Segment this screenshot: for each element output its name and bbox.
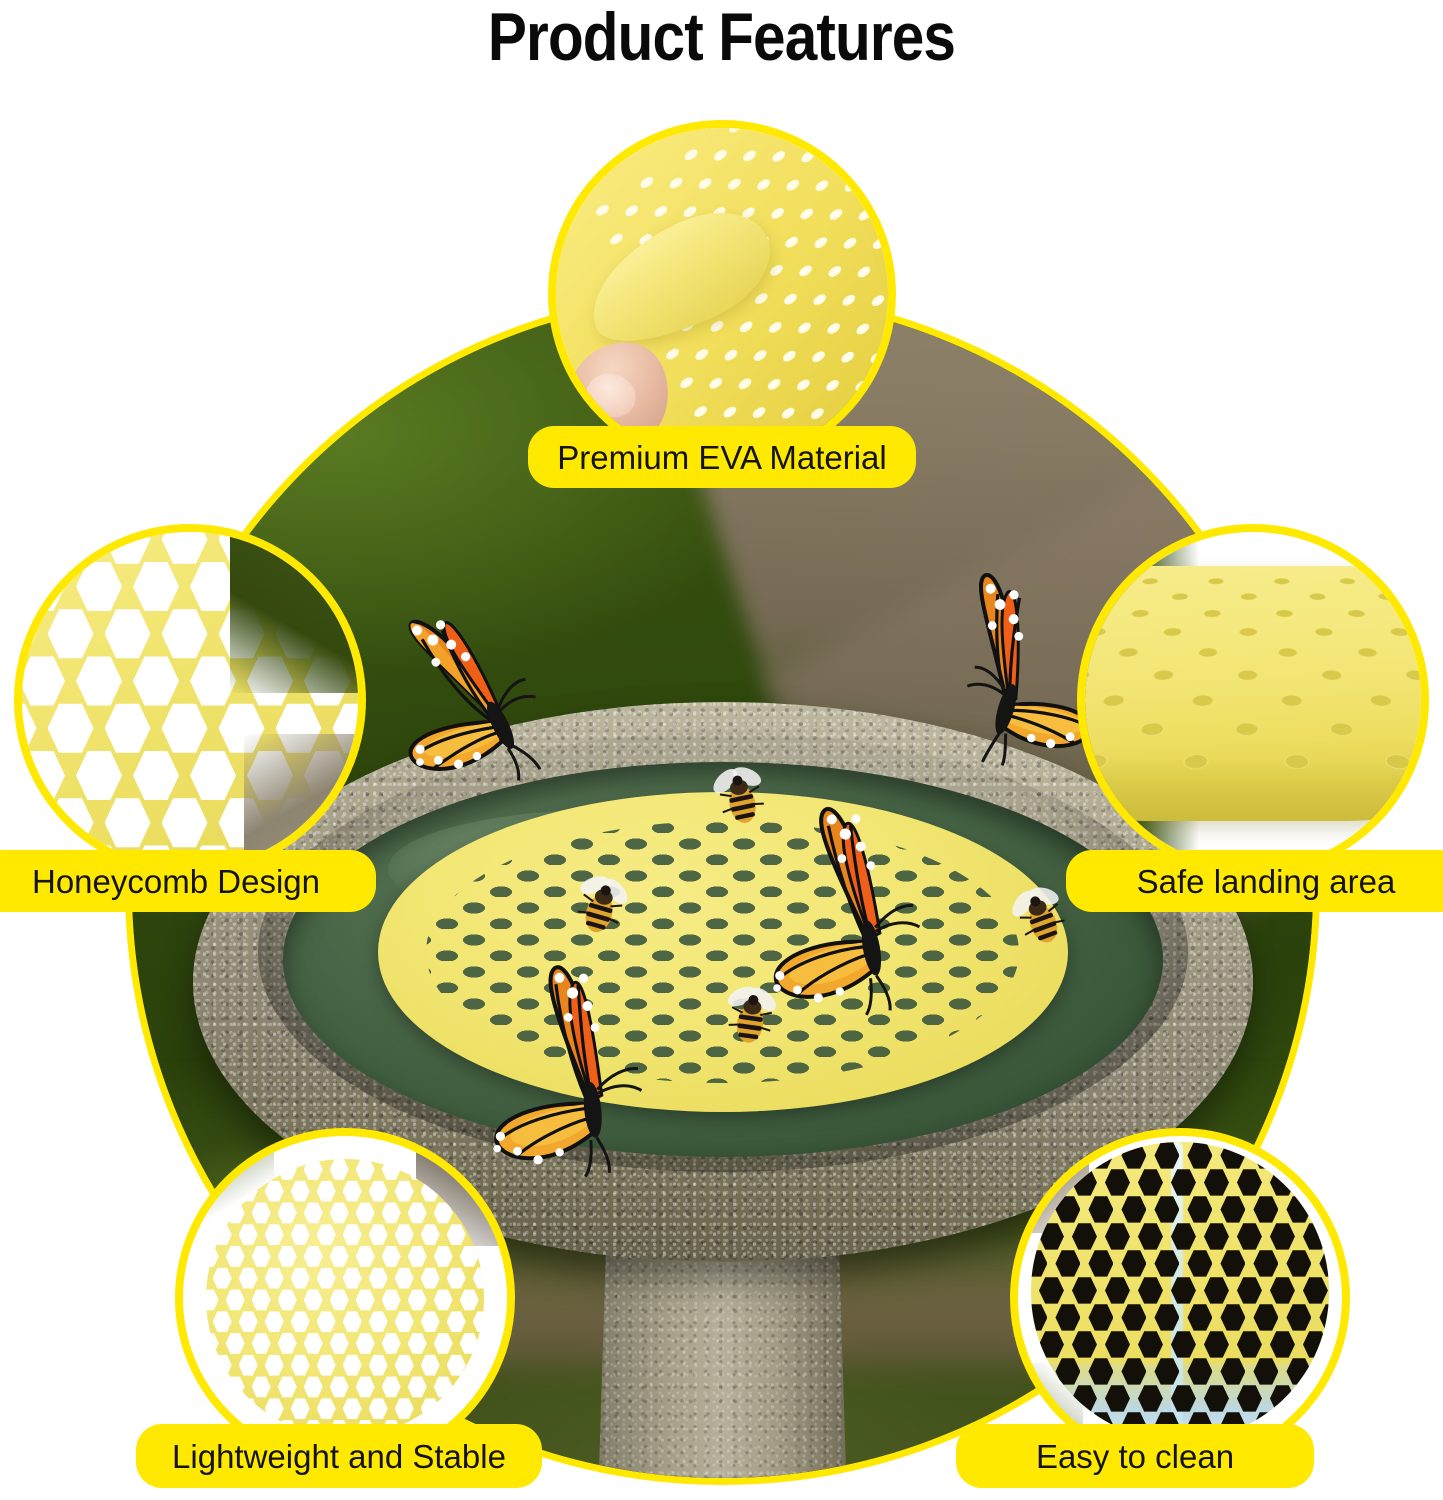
hex-cell — [265, 1354, 284, 1376]
hex-cell — [14, 524, 37, 565]
hex-cell — [1253, 1303, 1278, 1331]
hex-cell — [382, 1289, 401, 1311]
hex-cell — [434, 1376, 453, 1398]
hex-cell — [408, 1202, 427, 1224]
label-lightweight-and-stable[interactable]: Lightweight and Stable — [136, 1424, 542, 1488]
hex-cell — [1138, 1168, 1163, 1196]
hex-cell — [330, 1376, 349, 1398]
hex-cell — [213, 1224, 232, 1246]
hex-cell — [291, 1180, 310, 1202]
hex-cell — [1253, 1249, 1278, 1277]
hex-cell — [105, 524, 151, 565]
callout-easy-to-clean — [1010, 1128, 1350, 1468]
hex-cell — [162, 608, 208, 660]
hex-cell — [317, 1267, 336, 1289]
hex-cell — [369, 1224, 388, 1246]
hex-cell — [162, 797, 208, 849]
hex-cell — [1270, 1168, 1295, 1196]
hex-cell — [395, 1311, 414, 1333]
hex-cell — [206, 1376, 219, 1398]
hex-cell — [76, 750, 122, 802]
hex-cell — [76, 655, 122, 707]
hex-cell — [265, 1180, 284, 1202]
hex-cell — [460, 1289, 479, 1311]
hex-cell — [343, 1224, 362, 1246]
hex-cell — [252, 1202, 271, 1224]
hex-cell — [343, 1311, 362, 1333]
hex-cell — [1055, 1249, 1080, 1277]
hex-cell — [1105, 1276, 1130, 1304]
hex-cell — [330, 1289, 349, 1311]
hex-cell — [421, 1354, 440, 1376]
honeycomb-disc-full — [206, 1159, 485, 1438]
hex-cell — [1220, 1195, 1245, 1223]
hex-cell — [382, 1376, 401, 1398]
hex-cell — [252, 1289, 271, 1311]
hex-cell — [1204, 1276, 1229, 1304]
hex-cell — [1237, 1330, 1262, 1358]
hex-cell — [408, 1289, 427, 1311]
hex-cell — [473, 1354, 485, 1376]
hex-cell — [447, 1224, 466, 1246]
callout-honeycomb-design — [14, 524, 366, 876]
hex-cell — [395, 1398, 414, 1420]
hex-cell — [19, 750, 65, 802]
callout-safe-landing-area — [1077, 524, 1429, 876]
hex-cell — [226, 1245, 245, 1267]
hex-cell — [1286, 1249, 1311, 1277]
hex-cell — [343, 1398, 362, 1420]
hex-cell — [343, 1354, 362, 1376]
hex-cell — [48, 608, 94, 660]
hex-cell — [447, 1354, 466, 1376]
hex-cell — [447, 1267, 466, 1289]
hex-cell — [343, 1180, 362, 1202]
hex-cell — [421, 1398, 440, 1420]
label-easy-to-clean[interactable]: Easy to clean — [956, 1424, 1314, 1488]
hex-cell — [1088, 1195, 1113, 1223]
hex-cell — [239, 1398, 258, 1420]
hex-cell — [190, 655, 236, 707]
hex-cell — [382, 1159, 401, 1181]
foam-hex-dimples — [1077, 572, 1429, 789]
hex-cell — [317, 1224, 336, 1246]
hex-cell — [447, 1398, 466, 1420]
hex-cell — [252, 1376, 271, 1398]
hex-cell — [226, 1289, 245, 1311]
hex-cell — [213, 1267, 232, 1289]
hex-cell — [317, 1354, 336, 1376]
label-honeycomb-design[interactable]: Honeycomb Design — [0, 850, 376, 912]
hex-cell — [356, 1289, 375, 1311]
label-safe-landing-area[interactable]: Safe landing area — [1066, 850, 1443, 912]
hex-cell — [1072, 1222, 1097, 1250]
hex-cell — [395, 1180, 414, 1202]
hex-cell — [1303, 1276, 1328, 1304]
hex-cell — [76, 561, 122, 613]
hex-cell — [1187, 1142, 1212, 1169]
hex-cell — [291, 1311, 310, 1333]
hex-cell — [239, 1267, 258, 1289]
hex-cell — [133, 655, 179, 707]
hex-cell — [1237, 1168, 1262, 1196]
hex-cell — [304, 1202, 323, 1224]
hex-cell — [14, 797, 37, 849]
hex-cell — [1039, 1276, 1064, 1304]
hex-cell — [304, 1245, 323, 1267]
hex-cell — [1319, 1303, 1329, 1331]
hex-cell — [369, 1267, 388, 1289]
hex-cell — [421, 1224, 440, 1246]
callout-premium-eva-material — [548, 120, 896, 468]
hex-cell — [1072, 1276, 1097, 1304]
hex-cell — [1303, 1222, 1328, 1250]
hex-cell — [356, 1376, 375, 1398]
hex-cell — [1105, 1222, 1130, 1250]
hex-cell — [239, 1224, 258, 1246]
hex-cell — [278, 1159, 297, 1181]
hex-cell — [434, 1245, 453, 1267]
hex-cell — [1055, 1303, 1080, 1331]
hex-cell — [395, 1267, 414, 1289]
hex-cell — [460, 1376, 479, 1398]
hex-cell — [1072, 1330, 1097, 1358]
hex-cell — [1121, 1249, 1146, 1277]
hex-cell — [1220, 1142, 1245, 1169]
hex-cell — [369, 1180, 388, 1202]
hex-cell — [304, 1376, 323, 1398]
hex-cell — [291, 1224, 310, 1246]
hex-cell — [369, 1398, 388, 1420]
hex-cell — [1187, 1303, 1212, 1331]
hex-cell — [460, 1332, 479, 1354]
hex-cell — [1270, 1276, 1295, 1304]
butterfly-top-left — [380, 590, 610, 820]
hex-cell — [408, 1332, 427, 1354]
hex-cell — [190, 561, 236, 613]
hex-cell — [330, 1159, 349, 1181]
hex-cell — [206, 1289, 219, 1311]
hex-cell — [278, 1289, 297, 1311]
bee-upper-center — [705, 760, 779, 834]
hex-cell — [317, 1180, 336, 1202]
hex-cell — [1121, 1142, 1146, 1169]
hex-cell — [395, 1354, 414, 1376]
hex-cell — [434, 1289, 453, 1311]
hex-cell — [434, 1332, 453, 1354]
hex-cell — [226, 1332, 245, 1354]
hex-cell — [1121, 1303, 1146, 1331]
hex-cell — [1270, 1330, 1295, 1358]
hex-cell — [382, 1202, 401, 1224]
label-premium-eva-material[interactable]: Premium EVA Material — [528, 426, 916, 488]
hex-cell — [369, 1311, 388, 1333]
hex-cell — [408, 1245, 427, 1267]
hex-cell — [330, 1245, 349, 1267]
hex-cell — [1105, 1168, 1130, 1196]
hex-cell — [14, 702, 37, 754]
hex-cell — [1237, 1276, 1262, 1304]
hex-cell — [1237, 1222, 1262, 1250]
hex-cell — [1088, 1303, 1113, 1331]
hex-cell — [226, 1376, 245, 1398]
hex-cell — [14, 608, 37, 660]
hex-cell — [265, 1267, 284, 1289]
hex-cell — [343, 1267, 362, 1289]
hex-cell — [291, 1398, 310, 1420]
hex-cell — [278, 1332, 297, 1354]
hex-cell — [1303, 1330, 1328, 1358]
hex-cell — [265, 1311, 284, 1333]
hex-cell — [1088, 1249, 1113, 1277]
bee-lower-center — [715, 980, 789, 1054]
hex-cell — [356, 1245, 375, 1267]
hex-cell — [473, 1267, 485, 1289]
hex-cell — [304, 1332, 323, 1354]
hex-cell — [265, 1398, 284, 1420]
hex-cell — [1031, 1249, 1048, 1277]
page-title: Product Features — [101, 2, 1342, 73]
hex-cell — [395, 1224, 414, 1246]
hex-cell — [1286, 1303, 1311, 1331]
hex-cell — [382, 1245, 401, 1267]
hex-cell — [330, 1332, 349, 1354]
hex-cell — [1138, 1222, 1163, 1250]
hex-cell — [1220, 1303, 1245, 1331]
hex-cell — [1039, 1330, 1064, 1358]
hex-cell — [162, 524, 208, 565]
hex-cell — [1319, 1195, 1329, 1223]
hex-cell — [1031, 1303, 1048, 1331]
hex-cell — [206, 1332, 219, 1354]
hex-cell — [48, 797, 94, 849]
hex-cell — [213, 1354, 232, 1376]
hex-cell — [278, 1376, 297, 1398]
hex-cell — [421, 1311, 440, 1333]
hex-cell — [213, 1311, 232, 1333]
hex-cell — [1253, 1195, 1278, 1223]
hex-cell — [206, 1245, 219, 1267]
hex-cell — [19, 655, 65, 707]
hex-cell — [1105, 1330, 1130, 1358]
hex-cell — [408, 1376, 427, 1398]
hex-cell — [382, 1332, 401, 1354]
hex-cell — [1286, 1195, 1311, 1223]
hex-cell — [265, 1224, 284, 1246]
hex-cell — [19, 561, 65, 613]
hex-cell — [190, 750, 236, 802]
hex-cell — [239, 1354, 258, 1376]
hex-cell — [133, 561, 179, 613]
hex-cell — [239, 1311, 258, 1333]
hex-cell — [1204, 1222, 1229, 1250]
hex-cell — [252, 1332, 271, 1354]
hex-cell — [278, 1245, 297, 1267]
hex-cell — [447, 1311, 466, 1333]
hex-cell — [133, 750, 179, 802]
hex-cell — [304, 1159, 323, 1181]
hex-cell — [1138, 1276, 1163, 1304]
hex-cell — [1121, 1195, 1146, 1223]
hex-cell — [1187, 1195, 1212, 1223]
hex-cell — [369, 1354, 388, 1376]
hex-cell — [1204, 1168, 1229, 1196]
hex-cell — [291, 1354, 310, 1376]
hex-cell — [473, 1311, 485, 1333]
hex-cell — [1138, 1330, 1163, 1358]
hex-cell — [421, 1267, 440, 1289]
hex-cell — [1220, 1249, 1245, 1277]
hex-cell — [105, 608, 151, 660]
hex-cell — [317, 1311, 336, 1333]
hex-cell — [105, 797, 151, 849]
hex-cell — [48, 702, 94, 754]
hex-cell — [105, 702, 151, 754]
hex-cell — [1204, 1330, 1229, 1358]
hex-cell — [1187, 1249, 1212, 1277]
hex-cell — [278, 1202, 297, 1224]
hex-cell — [291, 1267, 310, 1289]
hex-cell — [356, 1159, 375, 1181]
hex-cell — [304, 1289, 323, 1311]
hex-cell — [356, 1202, 375, 1224]
grass-corner — [230, 524, 366, 693]
hex-cell — [1270, 1222, 1295, 1250]
hex-cell — [48, 524, 94, 565]
hex-cell — [162, 702, 208, 754]
hex-cell — [330, 1202, 349, 1224]
hex-cell — [317, 1398, 336, 1420]
hex-cell — [1319, 1142, 1329, 1169]
callout-lightweight-and-stable — [175, 1128, 515, 1468]
hex-cell — [356, 1332, 375, 1354]
product-features-infographic: Product Features — [0, 0, 1443, 1500]
hex-cell — [252, 1245, 271, 1267]
honeycomb-disc-rinsing — [1031, 1142, 1329, 1440]
bee-left — [565, 870, 639, 944]
hex-cell — [1319, 1249, 1329, 1277]
hex-cell — [460, 1245, 479, 1267]
